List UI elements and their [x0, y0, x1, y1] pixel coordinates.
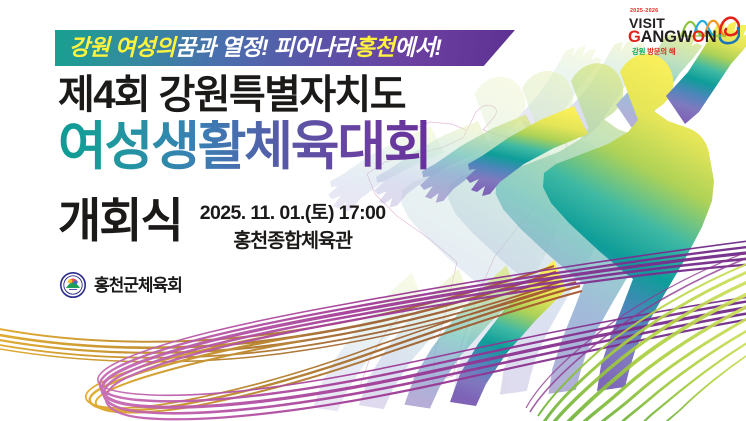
runner-silhouette-2 — [404, 31, 702, 408]
event-poster: 2025-2026 VISIT GANGWON 강원 방문의 해 강원 여성의 … — [0, 0, 746, 421]
vg-o: O — [692, 28, 705, 46]
ribbon-purple-accent — [526, 250, 746, 412]
vg-angw: ANGW — [641, 28, 692, 46]
ribbon-green — [538, 262, 746, 421]
runner-silhouette-1 — [450, 21, 746, 406]
organizer-name: 홍천군체육회 — [94, 277, 182, 294]
organizer-row: 홍천군체육회 — [60, 272, 182, 298]
vg-sub-kangwon: 강원 — [632, 47, 645, 56]
ceremony-label: 개회식 — [58, 196, 182, 245]
event-datetime: 2025. 11. 01.(토) 17:00 — [200, 202, 386, 225]
visit-gangwon-gangwon-word: GANGWON — [628, 29, 716, 46]
vg-g: G — [628, 28, 641, 46]
hongcheon-sports-council-emblem-icon — [60, 272, 86, 298]
slogan-seg-2: 홍천 — [354, 37, 394, 60]
vg-sub-year: 방문의 해 — [647, 47, 675, 56]
visit-gangwon-logo: 2025-2026 VISIT GANGWON 강원 방문의 해 — [622, 6, 740, 64]
slogan-banner: 강원 여성의 꿈과 열정! 피어나라 홍천에서! — [55, 30, 515, 66]
visit-gangwon-year: 2025-2026 — [630, 9, 658, 14]
ceremony-row: 개회식 2025. 11. 01.(토) 17:00 홍천종합체육관 — [58, 196, 386, 254]
ceremony-info: 2025. 11. 01.(토) 17:00 홍천종합체육관 — [200, 196, 386, 254]
vg-n: N — [705, 28, 717, 46]
headline-block: 제4회 강원특별자치도 여성생활체육대회 — [58, 74, 430, 174]
slogan-seg-1: 꿈과 열정! 피어나라 — [175, 37, 354, 60]
event-subtitle-line: 제4회 강원특별자치도 — [58, 74, 430, 116]
visit-gangwon-subtitle: 강원 방문의 해 — [632, 48, 675, 55]
slogan-text: 강원 여성의 꿈과 열정! 피어나라 홍천에서! — [55, 30, 515, 66]
slogan-seg-3: 에서! — [394, 37, 441, 60]
event-venue: 홍천종합체육관 — [233, 230, 352, 253]
event-main-title: 여성생활체육대회 — [58, 120, 430, 174]
ribbon-purple — [98, 240, 746, 419]
slogan-seg-0: 강원 여성의 — [69, 37, 175, 60]
